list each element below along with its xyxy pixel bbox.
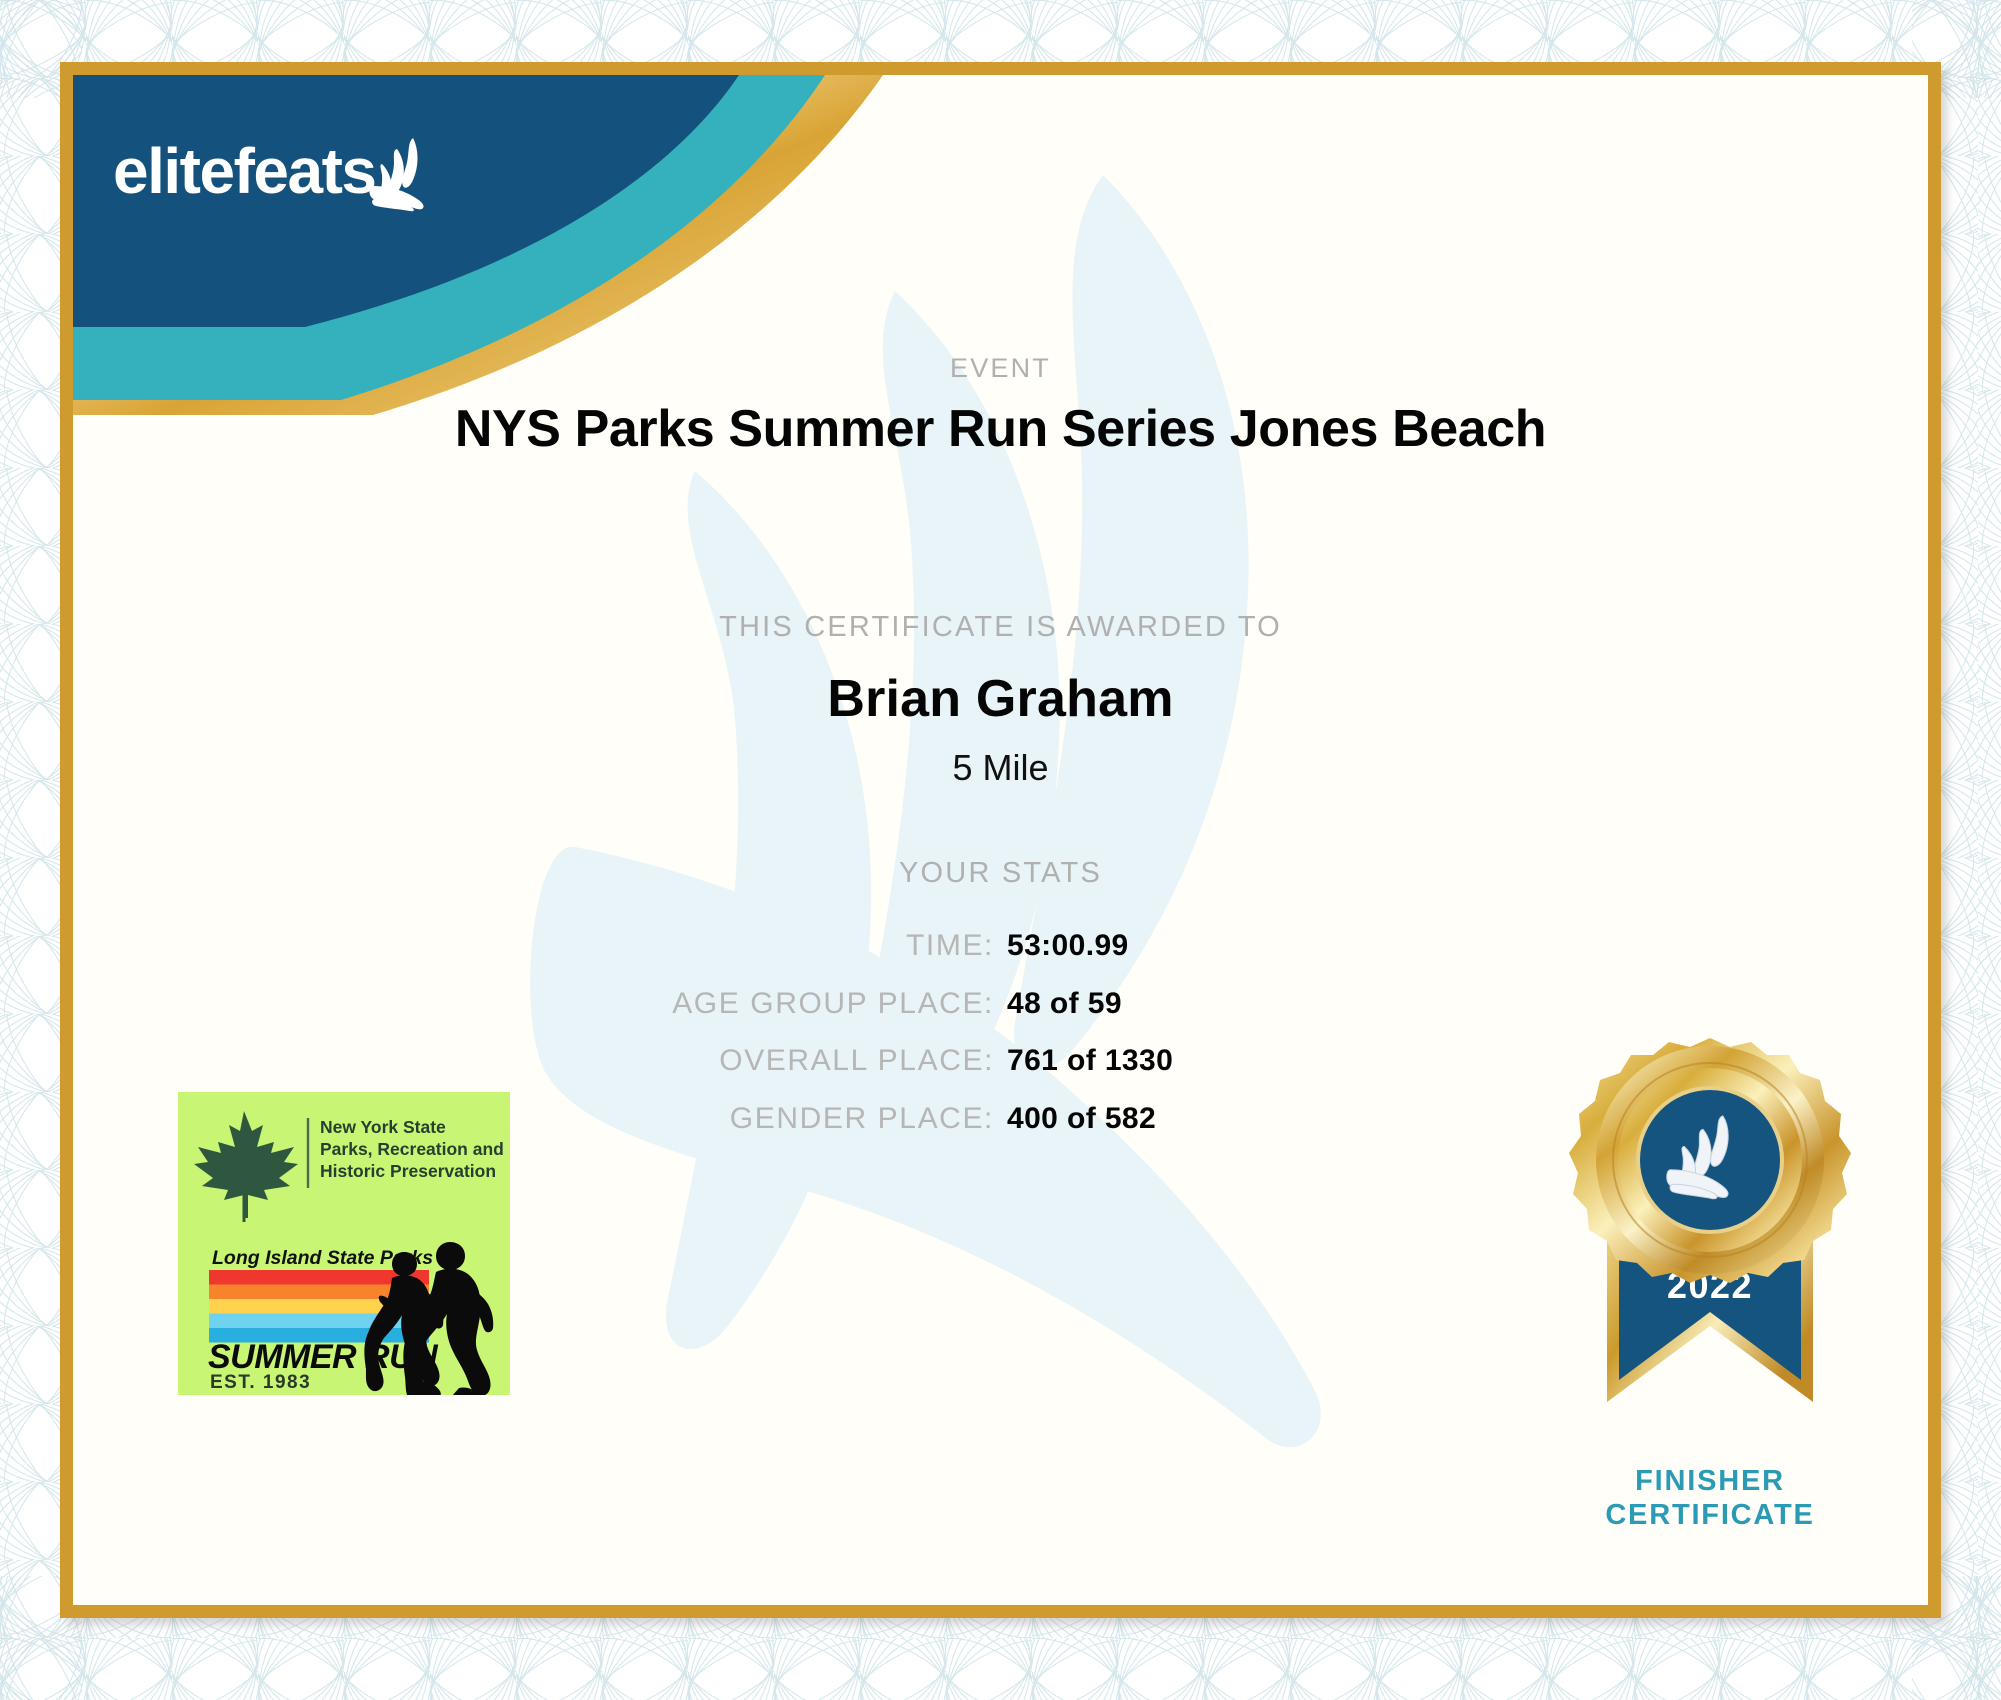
stat-key: GENDER PLACE: <box>596 1102 994 1137</box>
agency-line-2: Parks, Recreation and <box>320 1139 504 1159</box>
finisher-certificate-caption: FINISHER CERTIFICATE <box>1545 1465 1875 1532</box>
stat-row-time: TIME: 53:00.99 <box>73 929 1928 964</box>
race-distance: 5 Mile <box>73 747 1928 789</box>
agency-line-3: Historic Preservation <box>320 1161 496 1181</box>
your-stats-label: YOUR STATS <box>73 857 1928 890</box>
series-est-text: EST. 1983 <box>210 1372 311 1393</box>
series-main-text: SUMMER RUN <box>208 1338 439 1376</box>
awarded-to-label: THIS CERTIFICATE IS AWARDED TO <box>73 611 1928 644</box>
certificate-content: EVENT NYS Parks Summer Run Series Jones … <box>73 75 1928 1605</box>
nys-parks-summer-run-logo: New York State Parks, Recreation and His… <box>178 1092 510 1395</box>
stat-value: 48 of 59 <box>994 987 1405 1022</box>
certificate-body: elitefeats EVENT NYS Parks Summer Run Se… <box>73 75 1928 1605</box>
stat-key: TIME: <box>596 929 994 964</box>
stat-key: OVERALL PLACE: <box>596 1044 994 1079</box>
event-label: EVENT <box>73 353 1928 384</box>
stat-value: 53:00.99 <box>994 929 1405 964</box>
finisher-caption-line-2: CERTIFICATE <box>1545 1499 1875 1533</box>
certificate-frame: elitefeats EVENT NYS Parks Summer Run Se… <box>60 62 1941 1618</box>
agency-line-1: New York State <box>320 1117 446 1137</box>
stat-value: 761 of 1330 <box>994 1044 1405 1079</box>
stat-row-age-group-place: AGE GROUP PLACE: 48 of 59 <box>73 987 1928 1022</box>
finisher-caption-line-1: FINISHER <box>1545 1465 1875 1499</box>
recipient-name: Brian Graham <box>73 669 1928 729</box>
finisher-medal-badge: 2022 <box>1545 1030 1875 1460</box>
event-title: NYS Parks Summer Run Series Jones Beach <box>73 399 1928 459</box>
stat-key: AGE GROUP PLACE: <box>596 987 994 1022</box>
stat-value: 400 of 582 <box>994 1102 1405 1137</box>
